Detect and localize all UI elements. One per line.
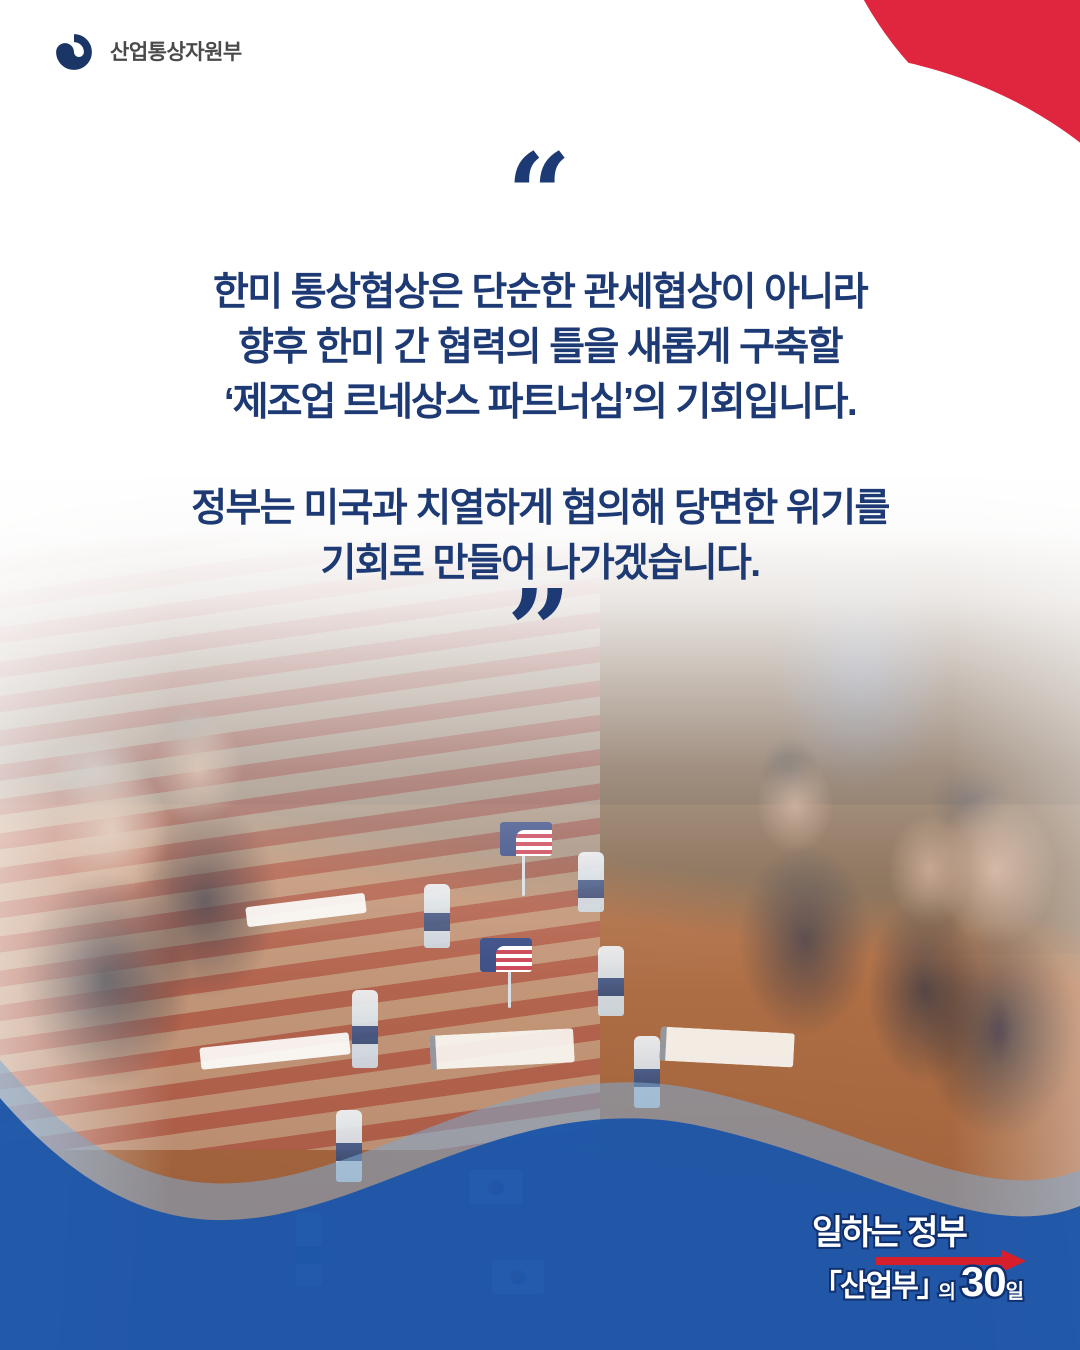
badge-particle: 의 — [938, 1283, 953, 1302]
quote-p1-line3-rest: 의 기회입니다. — [632, 381, 856, 424]
quote-p1-line1: 한미 통상협상은 단순한 관세협상이 아니라 — [213, 271, 867, 314]
badge-line-1-row: 일하는 정부 — [812, 1216, 1022, 1250]
quote-p2-line1: 정부는 미국과 치열하게 협의해 당면한 위기를 — [191, 487, 889, 530]
quote-paragraph-1: 한미 통상협상은 단순한 관세협상이 아니라향후 한미 간 협력의 틀을 새롭게… — [0, 265, 1080, 431]
badge-line-1: 일하는 정부 — [812, 1216, 966, 1250]
campaign-badge: 일하는 정부 「산업부」 의 30 일 — [812, 1216, 1022, 1308]
ministry-name: 산업통상자원부 — [110, 42, 242, 63]
korea-government-emblem-icon — [52, 30, 96, 74]
close-quote-mark: ” — [0, 601, 1080, 663]
badge-unit: 일 — [1006, 1282, 1022, 1302]
badge-number: 30 — [961, 1262, 1006, 1302]
header: 산업통상자원부 — [52, 30, 242, 74]
quote-p1-line3-strong: ‘제조업 르네상스 파트너십’ — [224, 381, 632, 424]
card-news-root: 산업통상자원부 “ 한미 통상협상은 단순한 관세협상이 아니라향후 한미 간 … — [0, 0, 1080, 1350]
quote-p1-line2: 향후 한미 간 협력의 틀을 새롭게 구축할 — [238, 326, 842, 369]
badge-line-2-row: 「산업부」 의 30 일 — [812, 1262, 1022, 1302]
quote-block: “ 한미 통상협상은 단순한 관세협상이 아니라향후 한미 간 협력의 틀을 새… — [0, 165, 1080, 663]
open-quote-mark: “ — [0, 165, 1080, 227]
badge-ministry-short: 「산업부」 — [812, 1272, 937, 1302]
